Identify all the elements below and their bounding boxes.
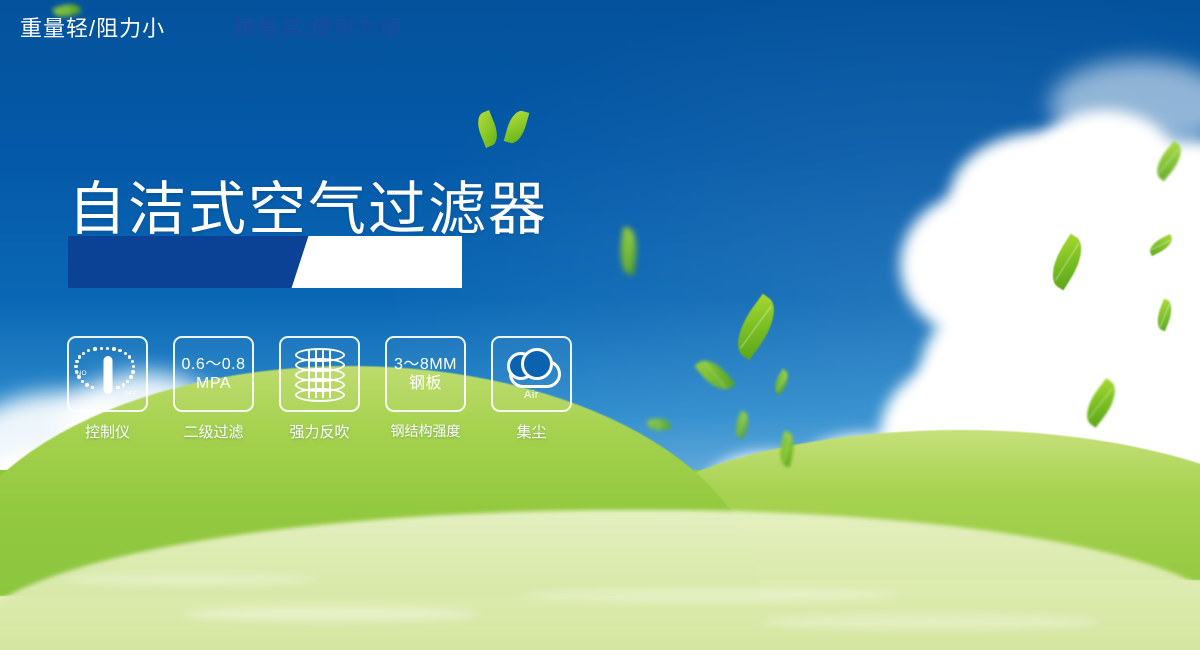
subtitle-left-text: 重量轻/阻力小 bbox=[20, 11, 165, 43]
feature-item-backblow[interactable]: 强力反吹 bbox=[280, 336, 359, 442]
gauge-icon: NO OFF bbox=[78, 345, 138, 403]
air-cloud-icon: Air bbox=[503, 348, 561, 400]
leaf-icon-9 bbox=[1043, 234, 1091, 291]
feature-item-secondary-filter[interactable]: 0.6～0.8 MPA 二级过滤 bbox=[174, 336, 253, 442]
leaf-icon-13 bbox=[1150, 141, 1188, 182]
leaf-icon-4 bbox=[694, 353, 735, 396]
pressure-value: 0.6～0.8 bbox=[182, 356, 246, 373]
feature-label: 强力反吹 bbox=[289, 421, 349, 442]
feature-box[interactable]: Air bbox=[491, 336, 572, 412]
filter-coil-icon bbox=[294, 346, 346, 402]
feature-item-steel-strength[interactable]: 3～8MM 钢板 钢结构强度 bbox=[386, 336, 465, 441]
feature-item-dust-collection[interactable]: Air 集尘 bbox=[492, 336, 571, 442]
leaf-icon-2 bbox=[617, 227, 640, 275]
wisp-cloud-topright bbox=[1050, 60, 1200, 150]
leaf-icon-11 bbox=[1153, 299, 1176, 332]
steel-material: 钢板 bbox=[409, 375, 442, 392]
feature-label: 钢结构强度 bbox=[391, 421, 461, 441]
feature-label: 集尘 bbox=[516, 421, 546, 442]
leaf-icon-8 bbox=[647, 416, 671, 433]
feature-box[interactable]: 3～8MM 钢板 bbox=[385, 336, 466, 412]
steel-text-icon: 3～8MM 钢板 bbox=[394, 355, 457, 393]
pressure-text-icon: 0.6～0.8 MPA bbox=[182, 355, 246, 393]
leaf-icon-5 bbox=[771, 369, 793, 395]
feature-box[interactable]: NO OFF bbox=[67, 336, 148, 412]
subtitle-bar bbox=[68, 236, 462, 288]
leaf-icon-12 bbox=[1078, 378, 1124, 428]
leaf-icon-3 bbox=[726, 294, 785, 361]
leaf-icon-10 bbox=[1147, 234, 1176, 256]
sprout-leaf-right bbox=[504, 108, 530, 145]
feature-box[interactable] bbox=[279, 336, 360, 412]
feature-label: 控制仪 bbox=[85, 421, 130, 442]
feature-list: NO OFF bbox=[68, 336, 571, 442]
pressure-unit: MPA bbox=[196, 375, 231, 392]
subtitle-left-panel bbox=[68, 236, 274, 288]
feature-item-controller[interactable]: NO OFF bbox=[68, 336, 147, 442]
page-title: 自洁式空气过滤器 bbox=[68, 181, 548, 239]
subtitle-right-text: 精度高/使用方便 bbox=[234, 11, 402, 43]
feature-box[interactable]: 0.6～0.8 MPA bbox=[173, 336, 254, 412]
sprout-leaf-left bbox=[473, 110, 501, 148]
leaf-icon-6 bbox=[732, 411, 753, 440]
air-label: Air bbox=[503, 389, 561, 401]
feature-label: 二级过滤 bbox=[183, 421, 243, 442]
gauge-off-label: OFF bbox=[124, 391, 138, 398]
product-banner: 自洁式空气过滤器 重量轻/阻力小 精度高/使用方便 NO OFF bbox=[0, 0, 1200, 650]
steel-thickness: 3～8MM bbox=[394, 356, 457, 373]
grass-field bbox=[0, 470, 1200, 650]
